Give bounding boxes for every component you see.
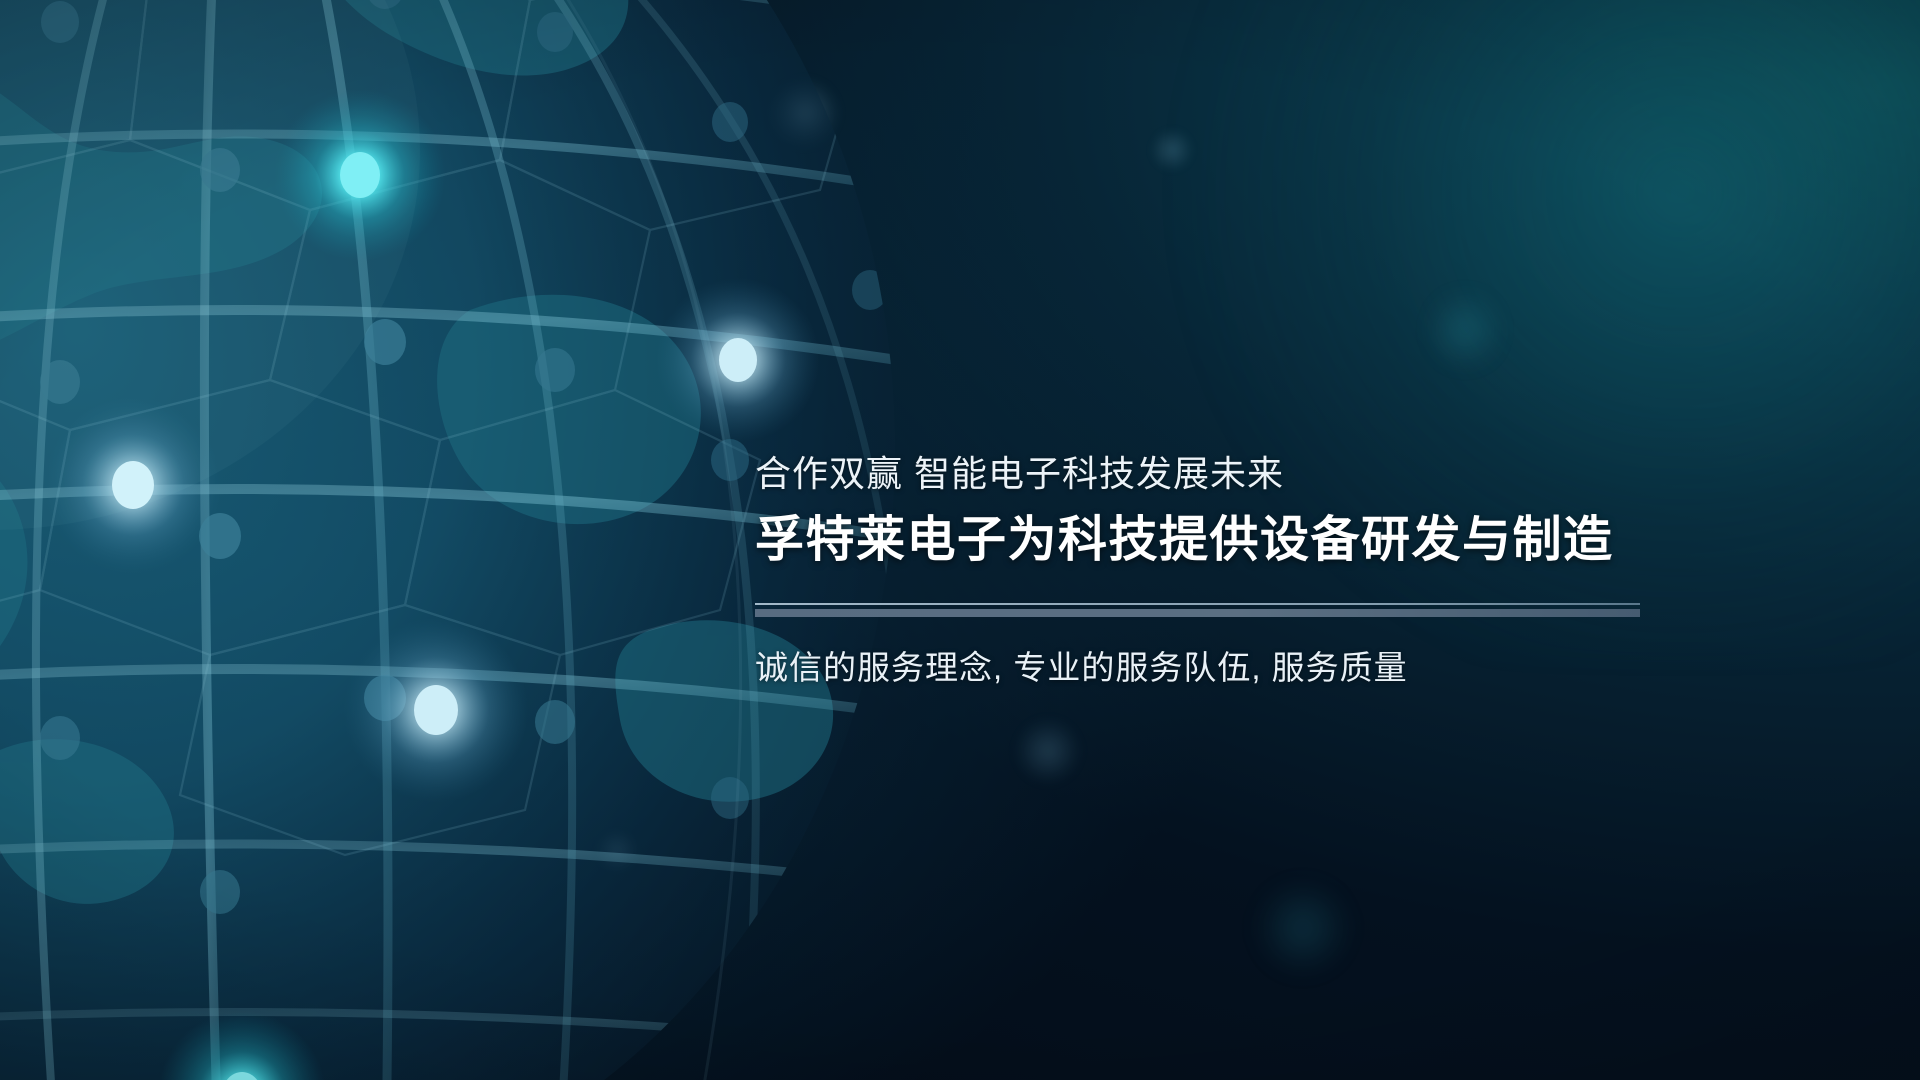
background-vignette	[0, 0, 1920, 1080]
hero-banner: 合作双赢 智能电子科技发展未来 孚特莱电子为科技提供设备研发与制造 诚信的服务理…	[0, 0, 1920, 1080]
